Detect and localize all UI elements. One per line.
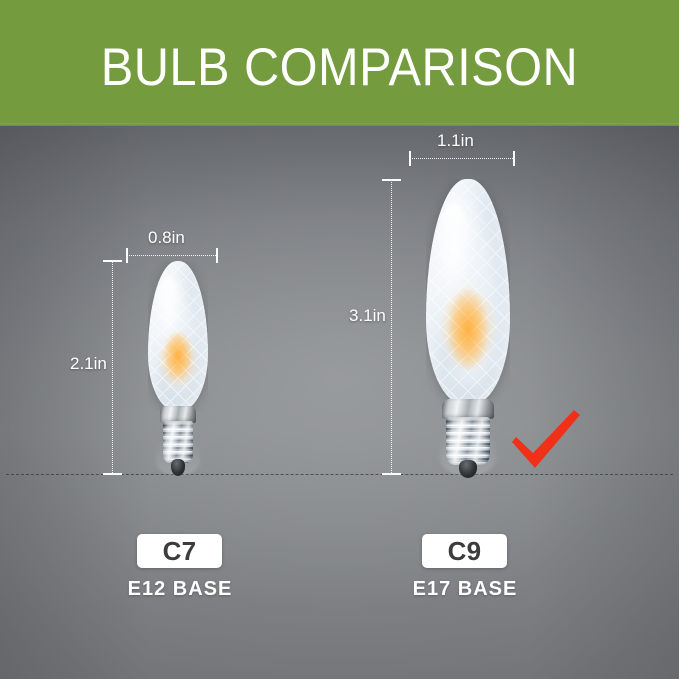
c7-width-tick-right bbox=[216, 248, 218, 263]
c7-height-tick-bottom bbox=[103, 473, 122, 475]
bulb-comparison-infographic: BULB COMPARISON 2.1in 0.8in bbox=[0, 0, 679, 679]
c9-highlight bbox=[439, 203, 469, 281]
c9-glass-envelope bbox=[426, 179, 510, 405]
c7-width-label: 0.8in bbox=[148, 228, 185, 248]
c7-width-tick-left bbox=[126, 248, 128, 263]
c7-led-filament bbox=[160, 323, 196, 389]
c7-glass-envelope bbox=[148, 261, 208, 411]
c7-base-type-label: E12 BASE bbox=[100, 578, 260, 601]
c9-name-chip-label: C9 bbox=[448, 536, 482, 567]
header-banner: BULB COMPARISON bbox=[0, 0, 679, 126]
c7-height-label: 2.1in bbox=[70, 354, 107, 374]
c7-base-tip bbox=[171, 459, 185, 476]
c7-width-dimension-line bbox=[127, 255, 218, 256]
c9-base-tip bbox=[459, 460, 477, 478]
c7-height-tick-top bbox=[103, 260, 122, 262]
c9-width-tick-left bbox=[409, 151, 411, 166]
c7-bulb bbox=[144, 261, 212, 479]
c9-led-filament bbox=[442, 277, 494, 383]
c9-height-tick-bottom bbox=[382, 473, 401, 475]
c9-e17-base bbox=[442, 399, 494, 479]
c9-base-collar bbox=[442, 399, 494, 419]
c9-width-dimension-line bbox=[410, 158, 515, 159]
c7-highlight bbox=[157, 277, 179, 329]
c9-base-type-label: E17 BASE bbox=[385, 578, 545, 601]
c7-name-chip-label: C7 bbox=[163, 536, 197, 567]
c9-height-label: 3.1in bbox=[349, 306, 386, 326]
c9-width-tick-right bbox=[513, 151, 515, 166]
c9-bulb bbox=[420, 179, 516, 479]
c7-e12-base bbox=[160, 406, 196, 479]
red-check-mark-icon bbox=[506, 406, 586, 472]
c7-name-chip[interactable]: C7 bbox=[137, 534, 222, 568]
c9-height-tick-top bbox=[382, 179, 401, 181]
c9-name-chip[interactable]: C9 bbox=[422, 534, 507, 568]
c9-base-threads bbox=[446, 417, 490, 465]
c9-height-dimension-line bbox=[391, 180, 392, 475]
c7-base-threads bbox=[163, 421, 193, 463]
c9-width-label: 1.1in bbox=[437, 131, 474, 151]
c7-height-dimension-line bbox=[112, 261, 113, 475]
page-title: BULB COMPARISON bbox=[27, 38, 652, 98]
